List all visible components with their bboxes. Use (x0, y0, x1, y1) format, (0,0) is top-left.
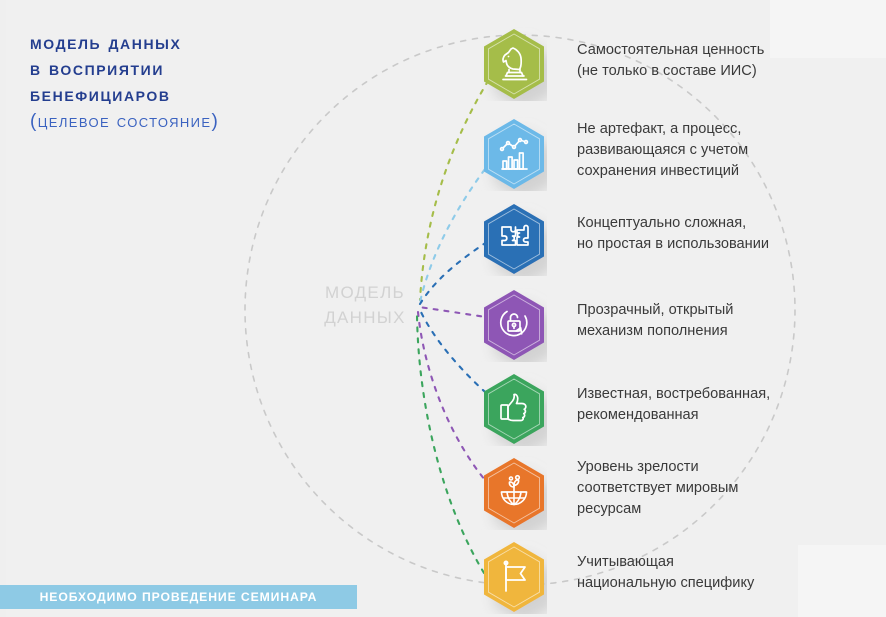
connector-line-7 (417, 314, 484, 573)
title-line-2: в восприятии (30, 56, 360, 82)
list-item-label: Не артефакт, а процесс, развивающаяся с … (577, 119, 877, 182)
title-line-3: бенефициаров (30, 82, 360, 108)
center-caption: Модель данных (300, 280, 430, 330)
title-line-1: Модель данных (30, 30, 360, 56)
title-subtitle: (целевое состояние) (30, 108, 360, 136)
slide-canvas: Модель данных в восприятии бенефициаров … (0, 0, 886, 617)
center-caption-line-2: данных (300, 305, 430, 330)
connector-line-6 (418, 312, 490, 486)
status-badge: Необходимо проведение семинара (0, 585, 357, 609)
hexagon-badge-1[interactable] (481, 27, 547, 101)
hexagon-badge-4[interactable] (481, 288, 547, 362)
page-title: Модель данных в восприятии бенефициаров … (30, 30, 360, 136)
list-item-label: Концептуально сложная, но простая в испо… (577, 213, 877, 255)
hexagon-badge-5[interactable] (481, 372, 547, 446)
hexagon-badge-3[interactable] (481, 202, 547, 276)
center-caption-line-1: Модель (300, 280, 430, 305)
list-item-label: Известная, востребованная, рекомендованн… (577, 384, 877, 426)
list-item-label: Уровень зрелости соответствует мировым р… (577, 457, 877, 520)
hexagon-badge-7[interactable] (481, 540, 547, 614)
list-item-label: Учитывающая национальную специфику (577, 552, 877, 594)
list-item-label: Прозрачный, открытый механизм пополнения (577, 300, 877, 342)
list-item-label: Самостоятельная ценность (не только в со… (577, 40, 877, 82)
hexagon-badge-2[interactable] (481, 117, 547, 191)
hexagon-badge-6[interactable] (481, 456, 547, 530)
